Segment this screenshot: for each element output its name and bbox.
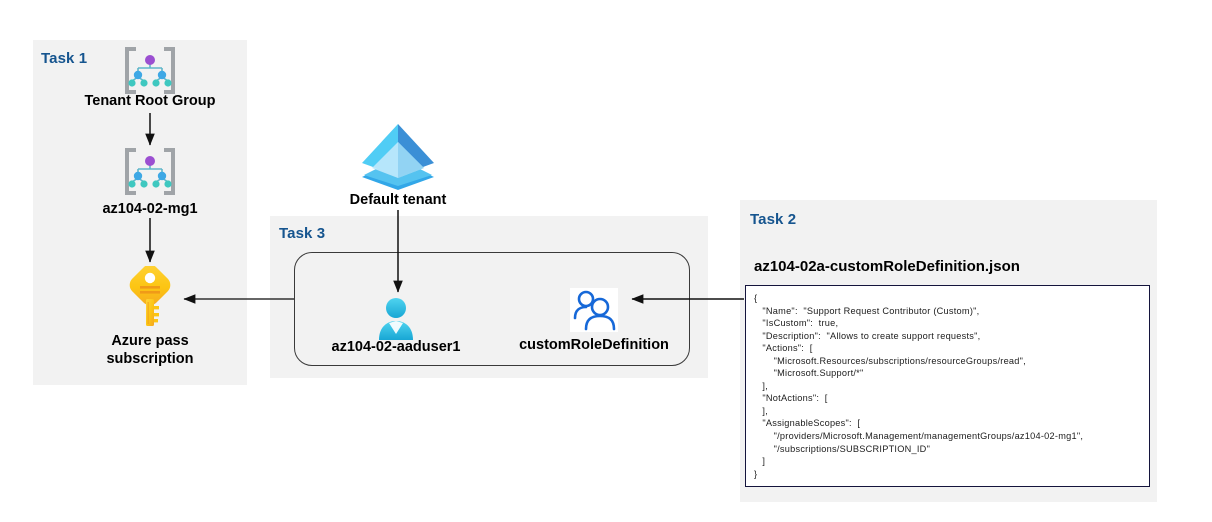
user-icon — [374, 296, 418, 340]
json-code-box: { "Name": "Support Request Contributor (… — [745, 285, 1150, 487]
azure-ad-tenant-icon — [358, 120, 438, 190]
azure-pass-subscription-label: Azure pass subscription — [70, 332, 230, 368]
key-icon — [126, 266, 174, 328]
task3-label: Task 3 — [279, 225, 325, 242]
diagram-canvas: Task 1 Task 3 Task 2 Tenant Root Group — [0, 0, 1212, 522]
custom-role-definition-label: customRoleDefinition — [499, 336, 689, 354]
role-definition-icon — [570, 288, 618, 332]
mg1-label: az104-02-mg1 — [50, 200, 250, 218]
default-tenant-label: Default tenant — [308, 191, 488, 209]
json-code-text: { "Name": "Support Request Contributor (… — [746, 286, 1149, 480]
task2-label: Task 2 — [750, 211, 796, 228]
management-group-icon — [122, 47, 178, 94]
tenant-root-group-label: Tenant Root Group — [40, 92, 260, 110]
json-file-name: az104-02a-customRoleDefinition.json — [754, 258, 1020, 275]
management-group-icon — [122, 148, 178, 195]
task1-label: Task 1 — [41, 50, 87, 67]
aaduser1-label: az104-02-aaduser1 — [306, 338, 486, 356]
